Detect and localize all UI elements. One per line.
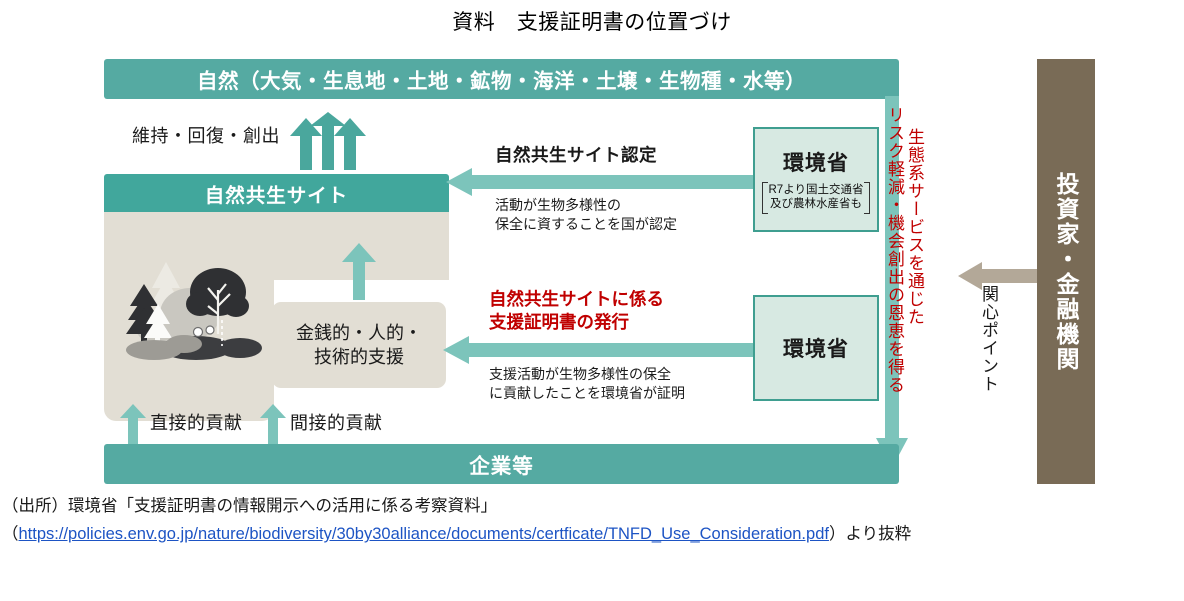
source-prefix: （出所）環境省「支援証明書の情報開示への活用に係る考察資料」	[2, 492, 1182, 520]
maintain-arrows-icon	[288, 112, 368, 170]
certificate-issue-label: 自然共生サイトに係る 支援証明書の発行	[489, 288, 664, 334]
ministry-1-note-line2: 及び農林水産省も	[769, 197, 864, 211]
interest-point-arrow-icon	[958, 262, 1038, 290]
indirect-contribution-label: 間接的貢献	[290, 409, 383, 435]
ministry-2-name: 環境省	[783, 333, 849, 363]
support-box-line1: 金銭的・人的・	[296, 321, 422, 345]
certificate-issue-line1: 自然共生サイトに係る	[489, 288, 664, 311]
certificate-issue-caption-line1: 支援活動が生物多様性の保全	[489, 365, 685, 384]
source-url-line: （https://policies.env.go.jp/nature/biodi…	[2, 520, 1182, 548]
certification-label: 自然共生サイト認定	[495, 142, 657, 167]
maintain-restore-create-label: 維持・回復・創出	[132, 122, 280, 148]
ministry-1-note-line1: R7より国土交通省	[769, 183, 864, 197]
page-title: 資料 支援証明書の位置づけ	[0, 6, 1184, 36]
certification-caption-line2: 保全に資することを国が認定	[495, 215, 677, 234]
source-suffix: ）より抜粋	[829, 525, 911, 543]
symbiosis-site-label: 自然共生サイト	[205, 179, 349, 208]
certificate-issue-line2: 支援証明書の発行	[489, 311, 664, 334]
certificate-issue-caption-line2: に貢献したことを環境省が証明	[489, 384, 685, 403]
support-up-arrow-icon	[341, 242, 377, 300]
nature-banner: 自然（大気・生息地・土地・鉱物・海洋・土壌・生物種・水等）	[104, 59, 899, 99]
certification-caption: 活動が生物多様性の 保全に資することを国が認定	[495, 196, 677, 234]
companies-banner: 企業等	[104, 444, 899, 484]
ministry-box-certificate: 環境省	[753, 295, 879, 401]
ecosystem-services-vertical-label: 生態系サービスを通じた	[906, 128, 923, 326]
diagram-page: 資料 支援証明書の位置づけ 自然（大気・生息地・土地・鉱物・海洋・土壌・生物種・…	[0, 0, 1184, 601]
indirect-contribution-arrow-icon	[260, 404, 286, 444]
nature-banner-label: 自然（大気・生息地・土地・鉱物・海洋・土壌・生物種・水等）	[197, 64, 806, 94]
support-box: 金銭的・人的・ 技術的支援	[272, 302, 446, 388]
risk-reduction-vertical-label: リスク軽減・機会創出の恩恵を得る	[886, 106, 903, 394]
source-open-paren: （	[2, 525, 19, 543]
investors-bar: 投資家・金融機関	[1037, 59, 1095, 484]
direct-contribution-arrow-icon	[120, 404, 146, 444]
certification-arrow-icon	[446, 168, 756, 196]
ministry-1-note: R7より国土交通省 及び農林水産省も	[762, 182, 871, 213]
companies-banner-label: 企業等	[469, 449, 534, 479]
source-url-link[interactable]: https://policies.env.go.jp/nature/biodiv…	[19, 525, 829, 543]
direct-contribution-label: 直接的貢献	[150, 409, 243, 435]
certificate-issue-caption: 支援活動が生物多様性の保全 に貢献したことを環境省が証明	[489, 365, 685, 403]
support-box-line2: 技術的支援	[314, 345, 404, 369]
ministry-1-name: 環境省	[783, 147, 849, 177]
ministry-box-certification: 環境省 R7より国土交通省 及び農林水産省も	[753, 127, 879, 232]
investors-bar-label: 投資家・金融機関	[1049, 172, 1083, 372]
certification-caption-line1: 活動が生物多様性の	[495, 196, 677, 215]
source-note: （出所）環境省「支援証明書の情報開示への活用に係る考察資料」 （https://…	[2, 492, 1182, 549]
certificate-issue-arrow-icon	[443, 336, 756, 364]
interest-point-vertical-label: 関心ポイント	[980, 285, 997, 393]
symbiosis-site-bar: 自然共生サイト	[104, 174, 449, 212]
forest-illustration	[118, 248, 263, 368]
